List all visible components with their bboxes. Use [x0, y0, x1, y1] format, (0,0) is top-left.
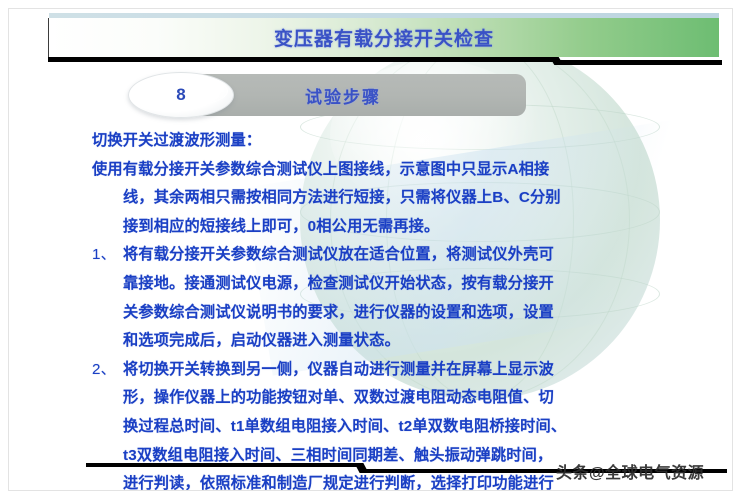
banner-underline-left	[48, 57, 556, 62]
list-item-line: 形，操作仪器上的功能按钮对单、双数过渡电阻动态电阻值、切	[123, 384, 652, 413]
list-item-line: 将有载分接开关参数综合测试仪放在适合位置，将测试仪外壳可	[123, 241, 652, 270]
source-watermark: 头条@全球电气资源	[556, 456, 736, 486]
list-item-line: 和选项完成后，启动仪器进入测量状态。	[123, 327, 652, 356]
footer-rule-left	[86, 463, 361, 467]
list-item-line: 关参数综合测试仪说明书的要求，进行仪器的设置和选项，设置	[123, 299, 652, 328]
section-number-value: 8	[128, 72, 234, 118]
list-item-line: 靠接地。接通测试仪电源，检查测试仪开始状态，按有载分接开	[123, 270, 652, 299]
list-item-line: 换过程总时间、t1单数组电阻接入时间、t2单双数电阻桥接时间、	[123, 413, 652, 442]
banner-underline-right	[556, 60, 722, 65]
intro-line: 线，其余两相只需按相同方法进行短接，只需将仪器上B、C分别	[92, 184, 652, 213]
list-item-line: 将切换开关转换到另一侧，仪器自动进行测量并在屏幕上显示波	[123, 356, 652, 385]
slide-body: 切换开关过渡波形测量： 使用有载分接开关参数综合测试仪上图接线，示意图中只显示A…	[92, 127, 652, 499]
body-heading: 切换开关过渡波形测量：	[92, 127, 652, 156]
page-title: 变压器有载分接开关检查	[49, 18, 719, 57]
list-item-marker: 2、	[92, 356, 123, 499]
slide-canvas: 变压器有载分接开关检查 试验步骤 8 切换开关过渡波形测量： 使用有载分接开关参…	[0, 0, 741, 499]
intro-line: 使用有载分接开关参数综合测试仪上图接线，示意图中只显示A相接	[92, 156, 652, 185]
list-item-marker: 1、	[92, 241, 123, 355]
list-item-body: 将有载分接开关参数综合测试仪放在适合位置，将测试仪外壳可 靠接地。接通测试仪电源…	[123, 241, 652, 355]
list-item: 1、 将有载分接开关参数综合测试仪放在适合位置，将测试仪外壳可 靠接地。接通测试…	[92, 241, 652, 355]
intro-line: 接到相应的短接线上即可，0相公用无需再接。	[92, 213, 652, 242]
